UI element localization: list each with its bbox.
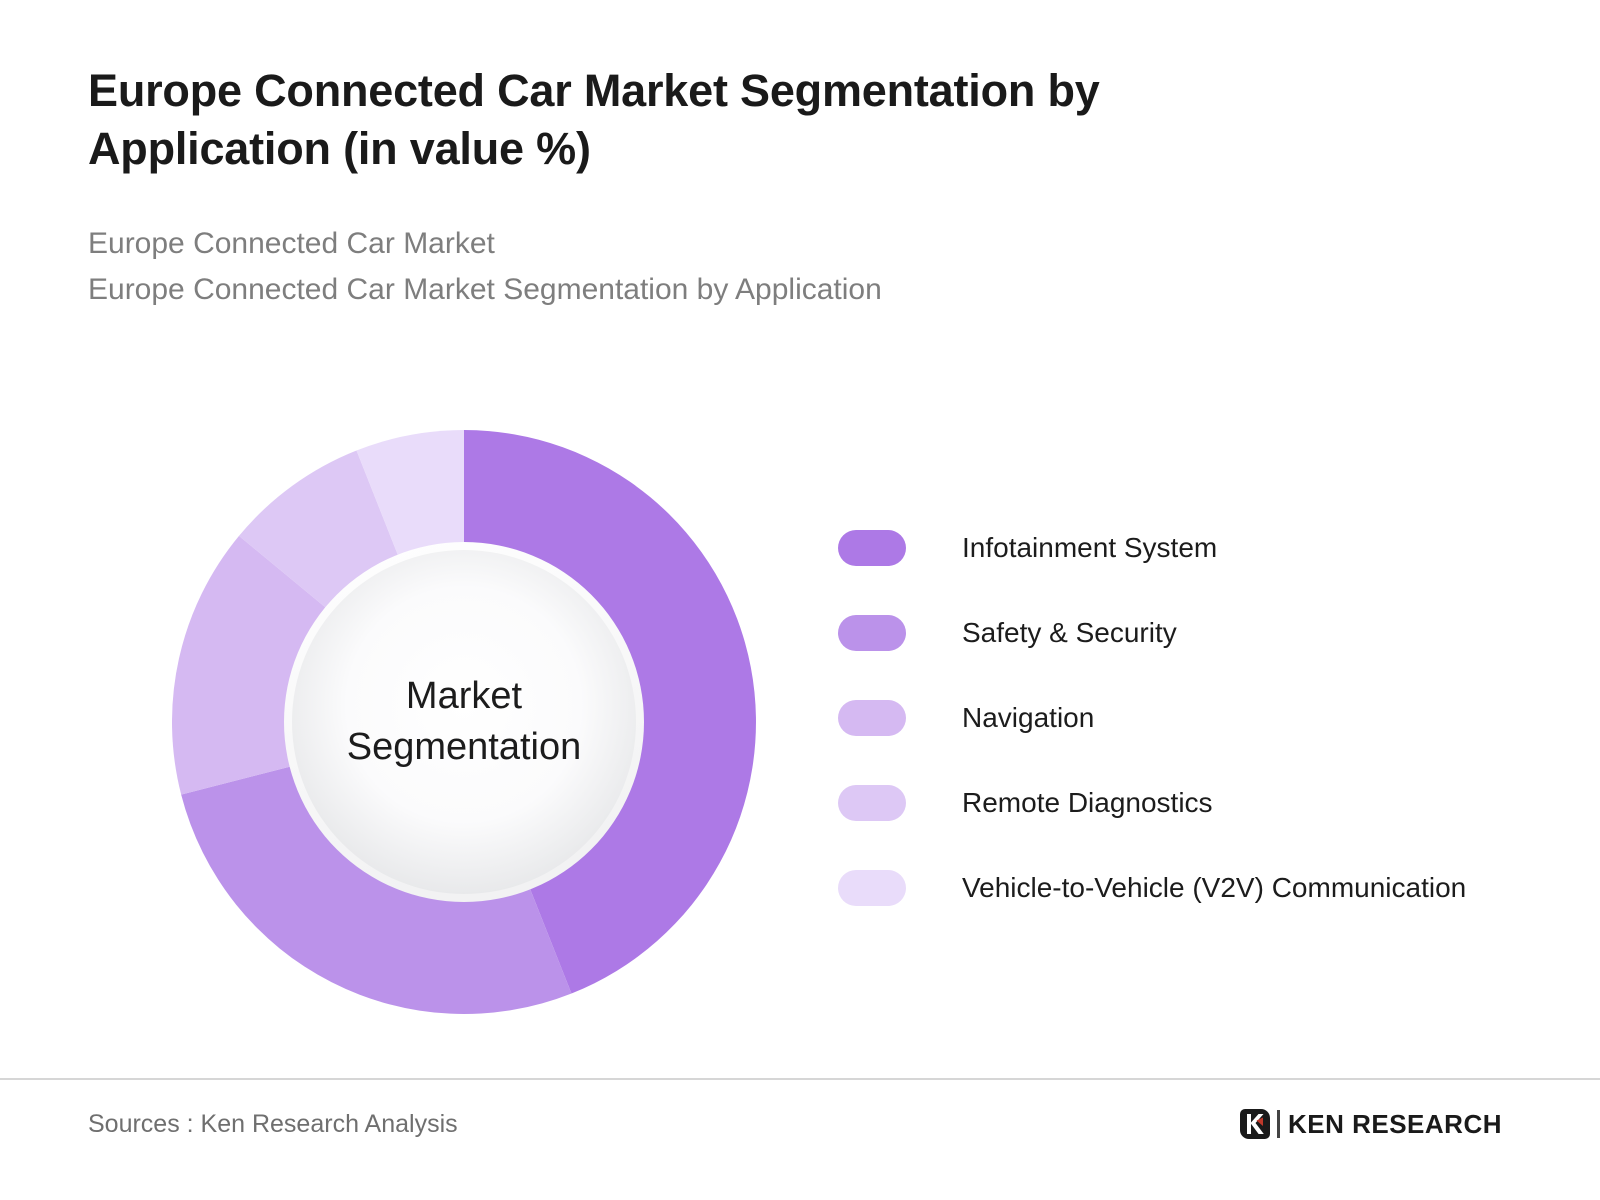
slide-page: Europe Connected Car Market Segmentation…: [0, 0, 1600, 1200]
legend-label: Remote Diagnostics: [962, 789, 1213, 817]
legend-label: Vehicle-to-Vehicle (V2V) Communication: [962, 874, 1466, 902]
footer: Sources : Ken Research Analysis KEN RESE…: [0, 1078, 1600, 1200]
legend-item[interactable]: Remote Diagnostics: [838, 760, 1578, 845]
donut-svg: [172, 430, 756, 1014]
legend-swatch: [838, 870, 906, 906]
legend-swatch: [838, 615, 906, 651]
donut-chart: Market Segmentation: [172, 430, 756, 1014]
subtitle-line-2: Europe Connected Car Market Segmentation…: [88, 267, 1388, 313]
page-title: Europe Connected Car Market Segmentation…: [88, 62, 1268, 177]
k-badge-icon: [1240, 1109, 1270, 1139]
legend-swatch: [838, 530, 906, 566]
legend-item[interactable]: Navigation: [838, 675, 1578, 760]
legend-label: Infotainment System: [962, 534, 1217, 562]
logo-wordmark: KEN RESEARCH: [1288, 1111, 1502, 1137]
ken-research-logo: KEN RESEARCH: [1240, 1104, 1502, 1144]
k-letter-icon: [1240, 1109, 1270, 1139]
header: Europe Connected Car Market Segmentation…: [88, 62, 1388, 312]
legend-label: Safety & Security: [962, 619, 1177, 647]
source-note: Sources : Ken Research Analysis: [88, 1110, 458, 1139]
subtitle-line-1: Europe Connected Car Market: [88, 221, 1388, 267]
legend-swatch: [838, 785, 906, 821]
legend-swatch: [838, 700, 906, 736]
chart-legend: Infotainment SystemSafety & SecurityNavi…: [838, 505, 1578, 930]
logo-divider: [1277, 1110, 1280, 1138]
chart-area: Market Segmentation Infotainment SystemS…: [0, 400, 1600, 1060]
legend-item[interactable]: Infotainment System: [838, 505, 1578, 590]
legend-item[interactable]: Safety & Security: [838, 590, 1578, 675]
legend-label: Navigation: [962, 704, 1094, 732]
subtitle-block: Europe Connected Car Market Europe Conne…: [88, 221, 1388, 312]
legend-item[interactable]: Vehicle-to-Vehicle (V2V) Communication: [838, 845, 1578, 930]
donut-hole: [292, 550, 636, 894]
